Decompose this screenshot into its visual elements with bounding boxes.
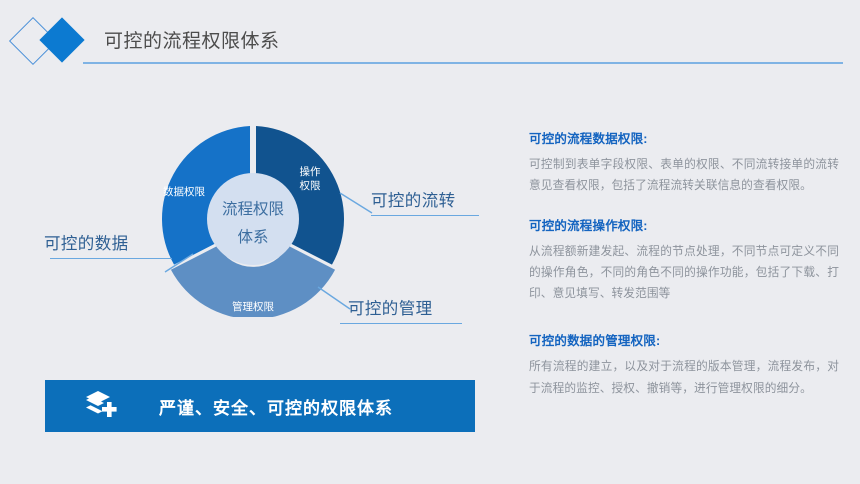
donut-center-line1: 流程权限 [222, 200, 284, 218]
slide-header: 可控的流程权限体系 [0, 0, 860, 80]
description-panel: 可控的流程数据权限: 可控制到表单字段权限、表单的权限、不同流转接单的流转意见查… [529, 128, 839, 399]
description-body: 从流程额新建发起、流程的节点处理，不同节点可定义不同的操作角色，不同的角色不同的… [529, 241, 839, 305]
callout-data[interactable]: 可控的数据 [44, 230, 172, 259]
description-body: 所有流程的建立，以及对于流程的版本管理，流程发布，对于流程的监控、授权、撤销等，… [529, 356, 839, 399]
connector-line-manage [316, 285, 352, 311]
donut-label-operation-line2: 权限 [300, 179, 321, 192]
donut-label-operation-line1: 操作 [300, 165, 321, 178]
description-block: 可控的流程操作权限: 从流程额新建发起、流程的节点处理，不同节点可定义不同的操作… [529, 215, 839, 305]
layers-plus-icon [85, 390, 119, 422]
diamond-filled-icon [39, 17, 84, 62]
callout-manage-underline [340, 323, 462, 324]
callout-flow[interactable]: 可控的流转 [371, 187, 479, 216]
description-block: 可控的数据的管理权限: 所有流程的建立，以及对于流程的版本管理，流程发布，对于流… [529, 330, 839, 399]
callout-manage-label: 可控的管理 [348, 295, 462, 319]
callout-data-underline [50, 258, 172, 259]
header-divider [83, 62, 843, 64]
donut-label-management: 管理权限 [232, 300, 274, 313]
callout-flow-underline [371, 215, 479, 216]
description-heading: 可控的数据的管理权限: [529, 330, 839, 349]
description-block: 可控的流程数据权限: 可控制到表单字段权限、表单的权限、不同流转接单的流转意见查… [529, 128, 839, 197]
callout-flow-label: 可控的流转 [371, 187, 479, 211]
donut-center-line2: 体系 [237, 228, 268, 246]
description-heading: 可控的流程数据权限: [529, 128, 839, 147]
connector-line-flow [338, 191, 374, 215]
description-body: 可控制到表单字段权限、表单的权限、不同流转接单的流转意见查看权限，包括了流程流转… [529, 154, 839, 197]
summary-banner-label: 严谨、安全、可控的权限体系 [159, 394, 393, 419]
donut-label-data: 数据权限 [163, 185, 205, 198]
callout-data-label: 可控的数据 [44, 230, 172, 254]
donut-center-disc [207, 173, 299, 265]
summary-banner[interactable]: 严谨、安全、可控的权限体系 [45, 380, 475, 432]
callout-manage[interactable]: 可控的管理 [348, 295, 462, 324]
page-title: 可控的流程权限体系 [104, 26, 280, 53]
description-heading: 可控的流程操作权限: [529, 215, 839, 234]
